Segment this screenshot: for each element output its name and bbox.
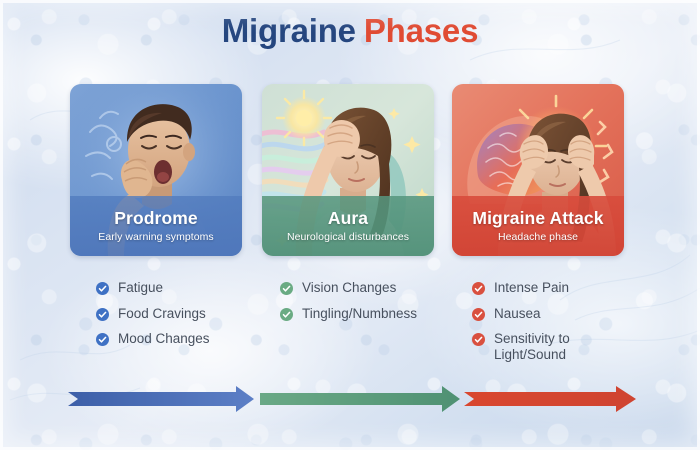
symptom-label: Intense Pain	[494, 280, 569, 296]
prodrome-label-band: Prodrome Early warning symptoms	[70, 196, 242, 256]
list-item: Food Cravings	[96, 306, 266, 322]
prodrome-title: Prodrome	[114, 209, 197, 227]
aura-title: Aura	[328, 209, 368, 227]
check-circle-icon	[280, 282, 293, 295]
symptom-label: Vision Changes	[302, 280, 396, 296]
phase-card-aura[interactable]: Aura Neurological disturbances	[262, 84, 434, 256]
migraine-attack-subtitle: Headache phase	[498, 231, 578, 243]
symptom-list-aura: Vision Changes Tingling/Numbness	[280, 280, 460, 331]
aura-subtitle: Neurological disturbances	[287, 231, 409, 243]
symptom-label: Sensitivity to Light/Sound	[494, 331, 622, 362]
list-item: Mood Changes	[96, 331, 266, 347]
title-part-phases: Phases	[364, 12, 478, 49]
list-item: Vision Changes	[280, 280, 460, 296]
check-circle-icon	[96, 308, 109, 321]
phase-card-migraine-attack[interactable]: Migraine Attack Headache phase	[452, 84, 624, 256]
title-part-migraine: Migraine	[222, 12, 356, 49]
symptom-label: Nausea	[494, 306, 541, 322]
list-item: Fatigue	[96, 280, 266, 296]
check-circle-icon	[96, 333, 109, 346]
migraine-attack-title: Migraine Attack	[472, 209, 603, 227]
symptom-list-migraine-attack: Intense Pain Nausea Sensitivity to Light…	[472, 280, 622, 373]
symptom-label: Fatigue	[118, 280, 163, 296]
aura-arrow	[260, 386, 460, 412]
prodrome-subtitle: Early warning symptoms	[98, 231, 213, 243]
aura-label-band: Aura Neurological disturbances	[262, 196, 434, 256]
check-circle-icon	[96, 282, 109, 295]
check-circle-icon	[472, 333, 485, 346]
page-title: MigrainePhases	[0, 14, 700, 47]
migraine-attack-arrow	[464, 386, 636, 412]
infographic-canvas: MigrainePhases	[0, 0, 700, 450]
check-circle-icon	[472, 308, 485, 321]
symptom-label: Mood Changes	[118, 331, 210, 347]
list-item: Tingling/Numbness	[280, 306, 460, 322]
phase-timeline	[68, 384, 636, 414]
list-item: Nausea	[472, 306, 622, 322]
list-item: Sensitivity to Light/Sound	[472, 331, 622, 362]
phase-card-prodrome[interactable]: Prodrome Early warning symptoms	[70, 84, 242, 256]
prodrome-arrow	[68, 386, 254, 412]
symptom-list-prodrome: Fatigue Food Cravings Mood Changes	[96, 280, 266, 357]
list-item: Intense Pain	[472, 280, 622, 296]
symptom-label: Food Cravings	[118, 306, 206, 322]
check-circle-icon	[472, 282, 485, 295]
migraine-attack-label-band: Migraine Attack Headache phase	[452, 196, 624, 256]
check-circle-icon	[280, 308, 293, 321]
symptom-label: Tingling/Numbness	[302, 306, 417, 322]
